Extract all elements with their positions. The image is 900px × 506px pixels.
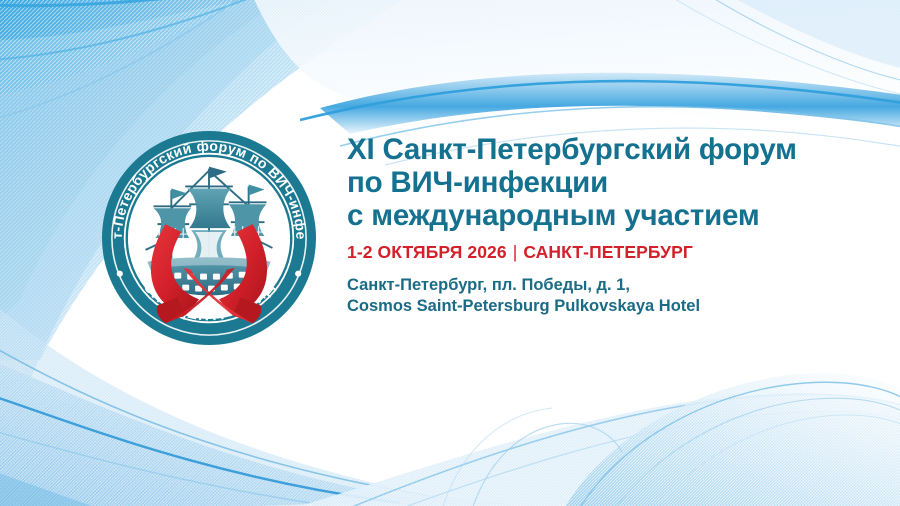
venue-line-1: Санкт-Петербург, пл. Победы, д. 1,: [347, 275, 817, 296]
event-date-and-city: 1-2 ОКТЯБРЯ 2026|САНКТ-ПЕТЕРБУРГ: [347, 241, 817, 263]
venue-line-2: Cosmos Saint-Petersburg Pulkovskaya Hote…: [347, 296, 817, 317]
title-line-1: XI Санкт-Петербургский форум: [347, 133, 817, 166]
event-date: 1-2 ОКТЯБРЯ 2026: [347, 242, 507, 262]
wave-bottom-right: [440, 373, 900, 506]
date-city-separator: |: [507, 242, 524, 262]
event-poster: Санкт-Петербургский форум по ВИЧ-инфекци…: [0, 0, 900, 506]
wave-bottom-band: [300, 393, 900, 506]
event-city: САНКТ-ПЕТЕРБУРГ: [523, 242, 693, 262]
title-line-2: по ВИЧ-инфекции: [347, 166, 817, 199]
poster-text-block: XI Санкт-Петербургский форум по ВИЧ-инфе…: [347, 133, 817, 317]
event-venue: Санкт-Петербург, пл. Победы, д. 1, Cosmo…: [347, 275, 817, 317]
title-line-3: с международным участием: [347, 199, 817, 232]
spb-hiv-forum-emblem: Санкт-Петербургский форум по ВИЧ-инфекци…: [100, 129, 318, 347]
page-title: XI Санкт-Петербургский форум по ВИЧ-инфе…: [347, 133, 817, 232]
